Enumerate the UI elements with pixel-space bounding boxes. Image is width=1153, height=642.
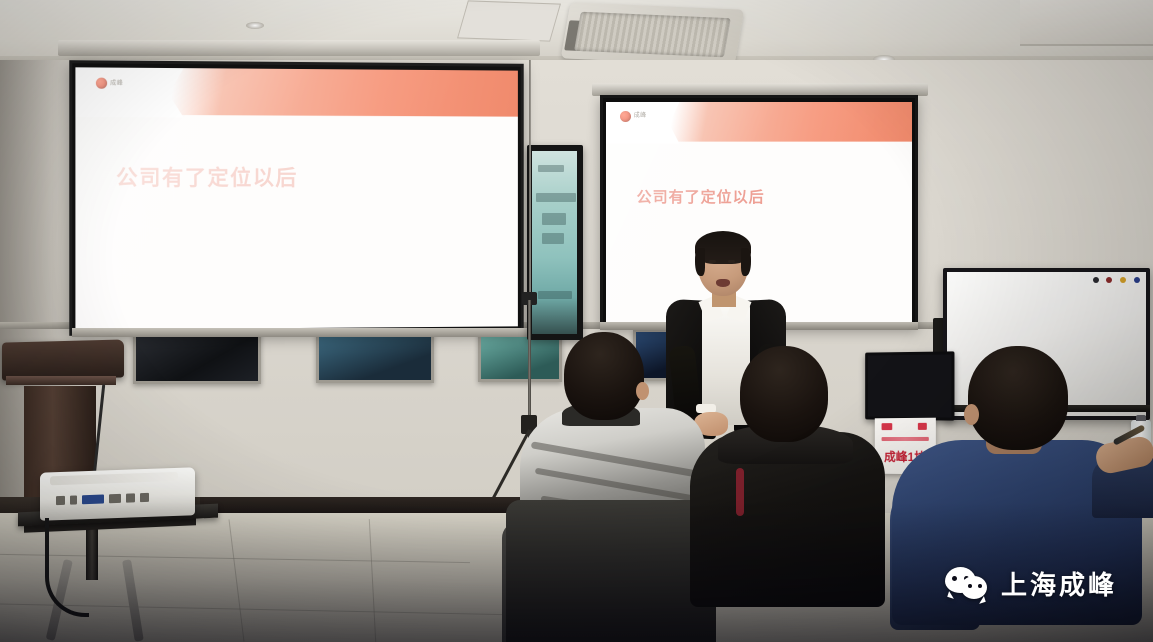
- projector-vga-port: [82, 494, 104, 504]
- lectern-shelf: [6, 376, 116, 385]
- display-text-line: [542, 233, 564, 244]
- lectern-top: [2, 339, 124, 380]
- ceiling-downlight: [246, 22, 264, 29]
- attendee-head: [968, 346, 1068, 450]
- wechat-icon: [945, 567, 991, 601]
- slide-band-notch: [606, 102, 679, 144]
- left-projection-screen[interactable]: 成峰 公司有了定位以后: [69, 60, 523, 336]
- vertical-information-display[interactable]: [527, 145, 583, 340]
- framed-picture-1: [133, 330, 261, 384]
- projector-vent: [50, 472, 178, 485]
- presenter-hair-side: [741, 248, 751, 276]
- wechat-watermark: 上海成峰: [945, 565, 1117, 602]
- projector-port: [140, 493, 149, 502]
- watermark-text: 上海成峰: [1001, 565, 1117, 602]
- ceiling-air-conditioner: [561, 2, 745, 66]
- ceiling-access-panel: [457, 0, 561, 41]
- slide-logo-text: 成峰: [110, 80, 123, 87]
- framed-picture-2: [316, 332, 434, 383]
- wechat-bubble-small: [961, 576, 987, 599]
- slide-logo: 成峰: [96, 78, 123, 89]
- attendee-head: [564, 332, 644, 420]
- picture-art: [319, 335, 431, 380]
- left-slide: 成峰 公司有了定位以后: [75, 67, 517, 329]
- brand-mark-icon: [96, 78, 107, 89]
- slide-band-notch: [75, 67, 183, 117]
- attendee-striped-shirt: [520, 330, 710, 642]
- projector-port: [56, 496, 65, 505]
- whiteboard-magnet[interactable]: [1134, 277, 1140, 283]
- attendee-ear: [636, 382, 649, 400]
- screenshot-root: 成峰 公司有了定位以后 成峰 公司有了定位以后: [0, 0, 1153, 642]
- wechat-eye: [952, 576, 957, 581]
- projector-port-row: [56, 490, 174, 507]
- hoodie-accent: [736, 468, 744, 516]
- slide-logo: 成峰: [620, 111, 647, 122]
- slide-logo-text: 成峰: [634, 113, 647, 120]
- right-slide-title: 公司有了定位以后: [637, 186, 765, 207]
- presenter-hair-side: [695, 248, 705, 276]
- projector-port: [109, 494, 121, 503]
- projector[interactable]: [40, 467, 195, 520]
- whiteboard-magnet[interactable]: [1120, 277, 1126, 283]
- projector-port: [70, 495, 77, 504]
- display-text-line: [538, 291, 572, 299]
- wechat-eye: [968, 584, 972, 588]
- ceiling-beam: [1020, 0, 1153, 46]
- whiteboard-magnet[interactable]: [1093, 277, 1099, 283]
- left-slide-title: 公司有了定位以后: [116, 162, 298, 192]
- floor-tile-seam: [229, 519, 245, 641]
- chair-seat[interactable]: [506, 500, 716, 642]
- attendee-black-hoodie: [700, 350, 890, 642]
- left-screen-roller: [58, 40, 540, 56]
- left-screen-bottom-bar: [72, 328, 527, 337]
- attendee-ear: [964, 404, 979, 425]
- wechat-eye: [978, 584, 982, 588]
- brand-mark-icon: [620, 111, 631, 122]
- attendee-writing-hand: [1096, 440, 1153, 530]
- display-text-line: [542, 213, 566, 225]
- presenter-mouth: [716, 279, 730, 287]
- ac-grill: [574, 12, 731, 58]
- display-text-line: [536, 193, 576, 202]
- floor-tile-seam: [369, 519, 376, 642]
- presenter-eye: [709, 260, 716, 263]
- attendee-head: [740, 346, 828, 442]
- presenter-eye: [728, 260, 735, 263]
- tripod-upper-pole: [529, 60, 531, 298]
- projector-port: [126, 493, 135, 502]
- vertical-display-screen: [532, 151, 577, 334]
- whiteboard-magnet[interactable]: [1106, 277, 1112, 283]
- picture-art: [136, 333, 258, 381]
- display-text-line: [538, 165, 564, 172]
